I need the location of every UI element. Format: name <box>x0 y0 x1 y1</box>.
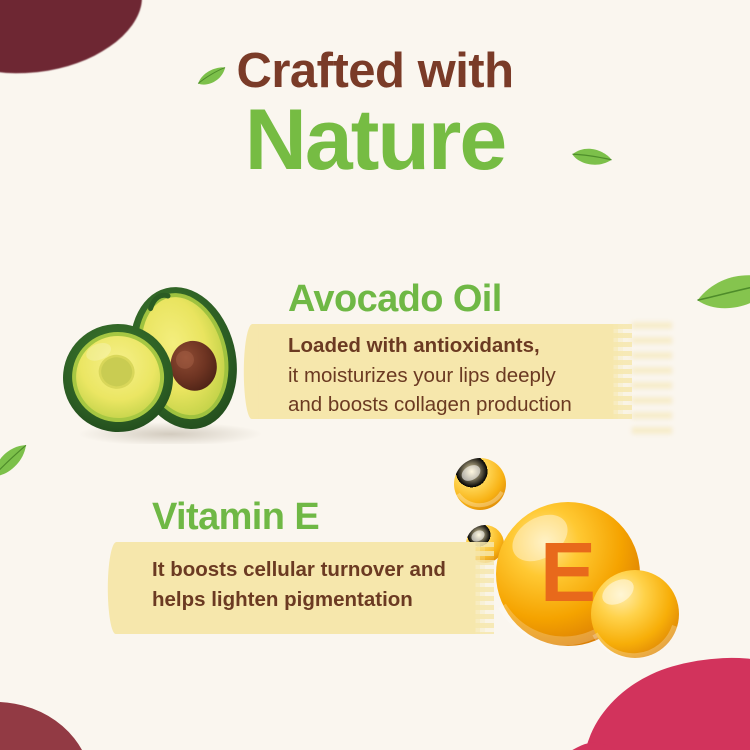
ingredient-block-vitamin-e: Vitamin E It boosts cellular turnover an… <box>152 498 532 614</box>
leaf-left-edge-icon <box>0 442 35 480</box>
body-line: It boosts cellular turnover and <box>152 555 532 585</box>
ingredient-body-vitamin-e: It boosts cellular turnover and helps li… <box>152 555 532 614</box>
ingredient-heading-vitamin-e: Vitamin E <box>152 498 532 536</box>
page-title: Crafted with Nature <box>0 46 750 182</box>
ingredient-heading-avocado-oil: Avocado Oil <box>288 280 648 318</box>
body-line: it moisturizes your lips deeply <box>288 361 648 391</box>
headline-line-1: Crafted with <box>0 46 750 97</box>
droplet-letter-e: E <box>540 525 596 619</box>
leaf-right-edge-icon <box>694 258 750 327</box>
ingredient-block-avocado-oil: Avocado Oil Loaded with antioxidants, it… <box>288 280 648 420</box>
poster-canvas: Crafted with Nature Avocado Oil Loaded w… <box>0 0 750 750</box>
headline-line-2: Nature <box>0 99 750 182</box>
body-line: and boosts collagen production <box>288 390 648 420</box>
body-line: Loaded with antioxidants, <box>288 331 648 361</box>
lipstick-smear-bottom-left <box>0 687 105 750</box>
droplet-medium <box>591 570 679 658</box>
ingredient-body-avocado-oil: Loaded with antioxidants, it moisturizes… <box>288 331 648 420</box>
body-line: helps lighten pigmentation <box>152 585 532 615</box>
